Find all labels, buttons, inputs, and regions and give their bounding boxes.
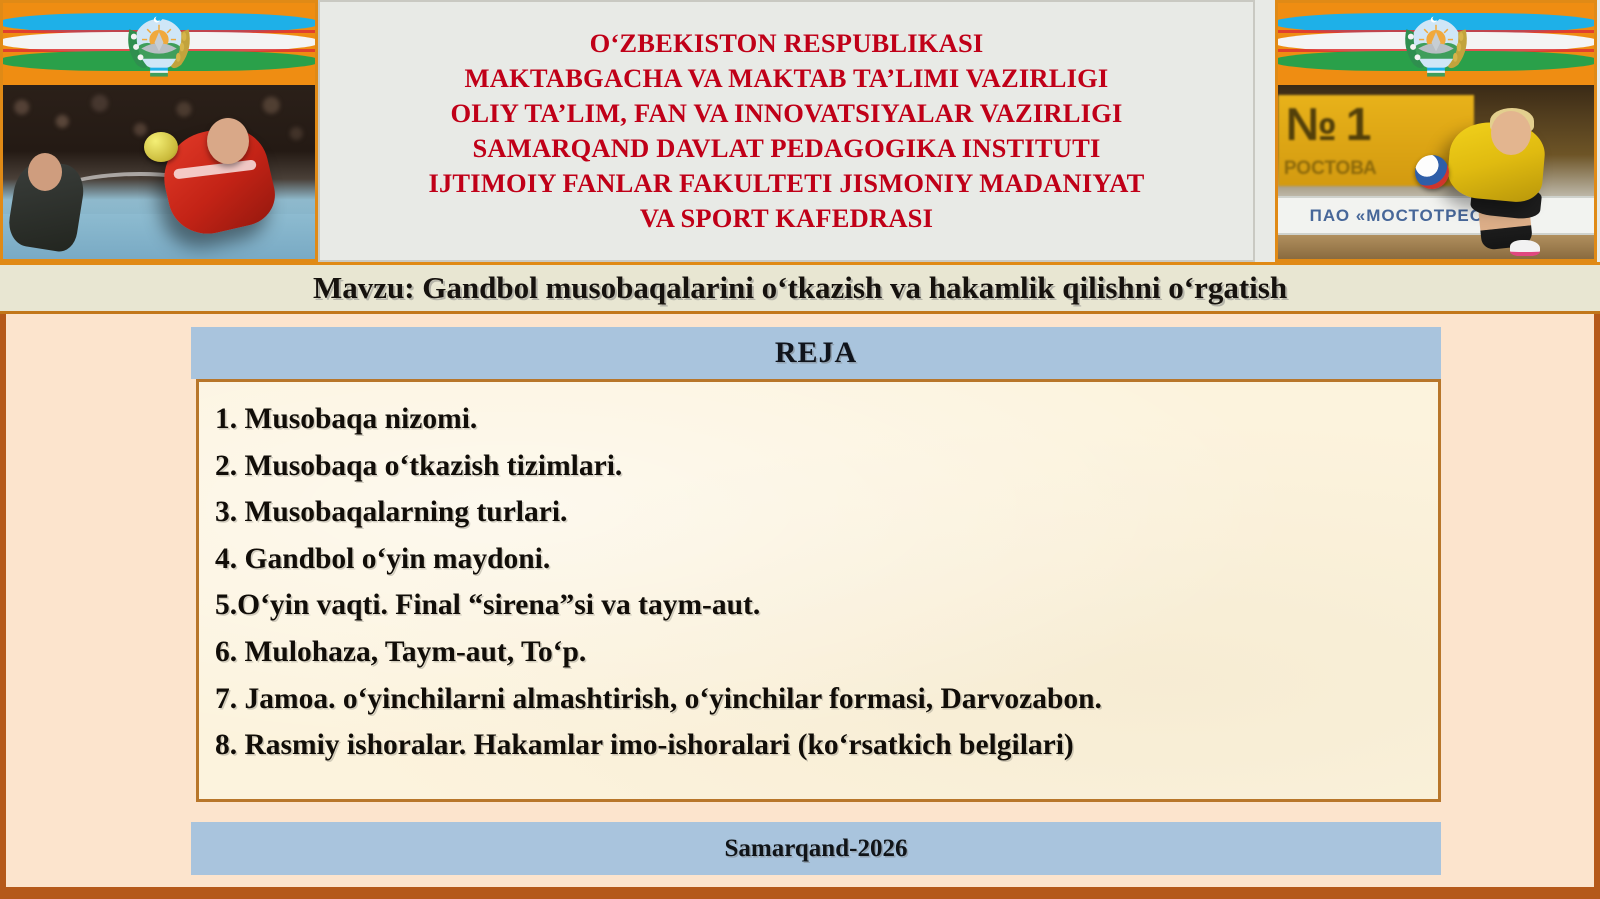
uzbekistan-state-emblem-icon — [1399, 7, 1473, 81]
footer-location-year: Samarqand-2026 — [725, 835, 908, 863]
handball-photo-left — [3, 85, 315, 259]
heading-line-5: IJTIMOIY FANLAR FAKULTETI JISMONIY MADAN… — [428, 166, 1144, 201]
heading-line-2: MAKTABGACHA VA MAKTAB TA’LIMI VAZIRLIGI — [428, 61, 1144, 96]
uzbekistan-flag-strip-left — [3, 3, 315, 85]
left-panel-inner — [0, 0, 318, 262]
subject-title: Mavzu: Gandbol musobaqalarini o‘tkazish … — [313, 270, 1287, 306]
banner-sponsor-text: РОСТОВА — [1284, 158, 1377, 180]
top-banner-row: O‘ZBEKISTON RESPUBLIKASI MAKTABGACHA VA … — [0, 0, 1600, 262]
plan-list-box: 1. Musobaqa nizomi. 2. Musobaqa o‘tkazis… — [196, 379, 1441, 802]
list-item: 1. Musobaqa nizomi. — [215, 396, 1422, 443]
heading-line-3: OLIY TA’LIM, FAN VA INNOVATSIYALAR VAZIR… — [428, 96, 1144, 131]
defender-head — [28, 153, 62, 191]
uzbekistan-flag-strip-right — [1278, 3, 1594, 85]
heading-line-4: SAMARQAND DAVLAT PEDAGOGIKA INSTITUTI — [428, 131, 1144, 166]
advertising-board: ПАО «МОСТОТРЕСТ» — [1278, 196, 1594, 234]
list-item: 6. Mulohaza, Taym-aut, To‘p. — [215, 629, 1422, 676]
plan-title: REJA — [775, 336, 857, 370]
uzbekistan-state-emblem-icon — [122, 7, 196, 81]
player-head — [1491, 111, 1531, 155]
left-emblem-photo-panel — [0, 0, 318, 262]
list-item: 7. Jamoa. o‘yinchilarni almashtirish, o‘… — [215, 676, 1422, 723]
slide-root: O‘ZBEKISTON RESPUBLIKASI MAKTABGACHA VA … — [0, 0, 1600, 899]
list-item: 5.O‘yin vaqti. Final “sirena”si va taym-… — [215, 582, 1422, 629]
subject-band: Mavzu: Gandbol musobaqalarini o‘tkazish … — [0, 262, 1600, 314]
player-shoe — [1510, 240, 1540, 256]
heading-line-1: O‘ZBEKISTON RESPUBLIKASI — [428, 26, 1144, 61]
institution-heading-block: O‘ZBEKISTON RESPUBLIKASI MAKTABGACHA VA … — [318, 0, 1255, 262]
right-emblem-photo-panel: № 1 РОСТОВА ПАО «МОСТОТРЕСТ» — [1255, 0, 1600, 262]
list-item: 8. Rasmiy ishoralar. Hakamlar imo-ishora… — [215, 722, 1422, 769]
plan-title-bar: REJA — [191, 327, 1441, 379]
handball-ball-icon — [1415, 155, 1449, 189]
right-panel-inner: № 1 РОСТОВА ПАО «МОСТОТРЕСТ» — [1275, 0, 1597, 262]
banner-number-one-text: № 1 — [1286, 97, 1370, 151]
list-item: 2. Musobaqa o‘tkazish tizimlari. — [215, 443, 1422, 490]
court-floor-right — [1278, 235, 1594, 259]
list-item: 3. Musobaqalarning turlari. — [215, 489, 1422, 536]
handball-ball-icon — [144, 132, 178, 162]
institution-heading-lines: O‘ZBEKISTON RESPUBLIKASI MAKTABGACHA VA … — [428, 26, 1144, 236]
handball-photo-right: № 1 РОСТОВА ПАО «МОСТОТРЕСТ» — [1278, 85, 1594, 259]
list-item: 4. Gandbol o‘yin maydoni. — [215, 536, 1422, 583]
heading-line-6: VA SPORT KAFEDRASI — [428, 201, 1144, 236]
footer-bar: Samarqand-2026 — [191, 822, 1441, 875]
